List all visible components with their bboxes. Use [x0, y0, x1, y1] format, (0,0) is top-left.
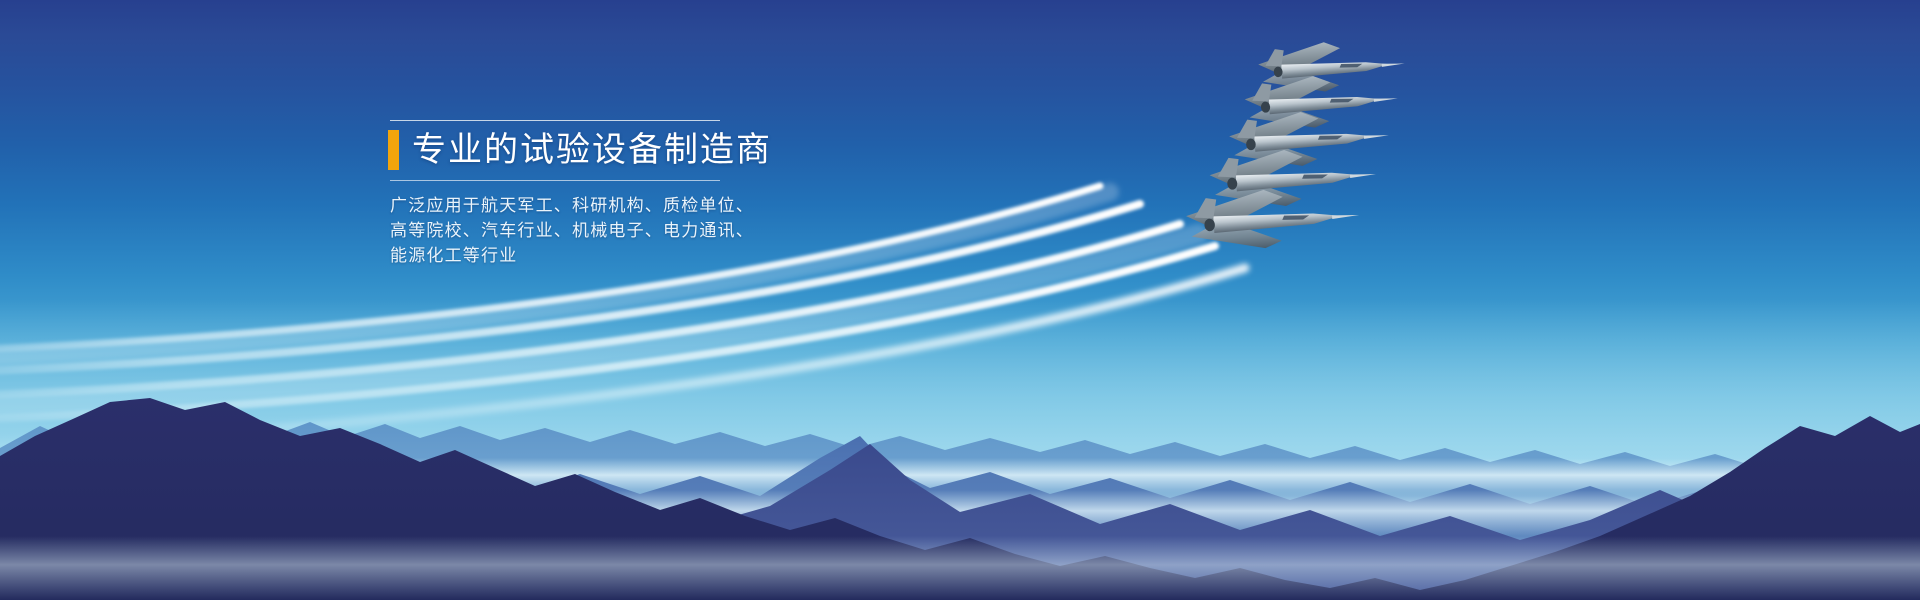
banner-headline: 专业的试验设备制造商	[412, 130, 772, 170]
jet-5	[1185, 183, 1361, 253]
subtitle-line-3: 能源化工等行业	[390, 243, 748, 268]
jet-2	[1243, 70, 1399, 132]
ridge-front	[0, 398, 1920, 600]
banner-text-block: 专业的试验设备制造商 广泛应用于航天军工、科研机构、质检单位、 高等院校、汽车行…	[388, 120, 748, 268]
subtitle-line-1: 广泛应用于航天军工、科研机构、质检单位、	[390, 193, 748, 218]
headline-row: 专业的试验设备制造商	[388, 130, 748, 170]
mist-band-far	[0, 458, 1920, 496]
valley-fog	[0, 536, 1920, 600]
jet-3	[1228, 106, 1391, 171]
headline-rule-top	[390, 120, 720, 121]
horizon-haze	[0, 300, 1920, 500]
contrail-group	[0, 0, 1920, 600]
contrail-4	[0, 246, 1215, 420]
ridge-far	[0, 420, 1920, 600]
mist-band-mid	[0, 490, 1920, 536]
contrail-5	[0, 268, 1245, 446]
jet-formation	[1130, 40, 1510, 280]
accent-bar	[388, 130, 399, 170]
ridge-mid	[0, 436, 1920, 600]
headline-rule-bottom	[390, 180, 720, 181]
mountain-range	[0, 340, 1920, 600]
banner-subtitle: 广泛应用于航天军工、科研机构、质检单位、 高等院校、汽车行业、机械电子、电力通讯…	[390, 193, 748, 268]
ridge-near	[0, 444, 1920, 600]
hero-banner: 专业的试验设备制造商 广泛应用于航天军工、科研机构、质检单位、 高等院校、汽车行…	[0, 0, 1920, 600]
jet-1	[1257, 40, 1406, 96]
jet-4	[1208, 144, 1378, 211]
subtitle-line-2: 高等院校、汽车行业、机械电子、电力通讯、	[390, 218, 748, 243]
